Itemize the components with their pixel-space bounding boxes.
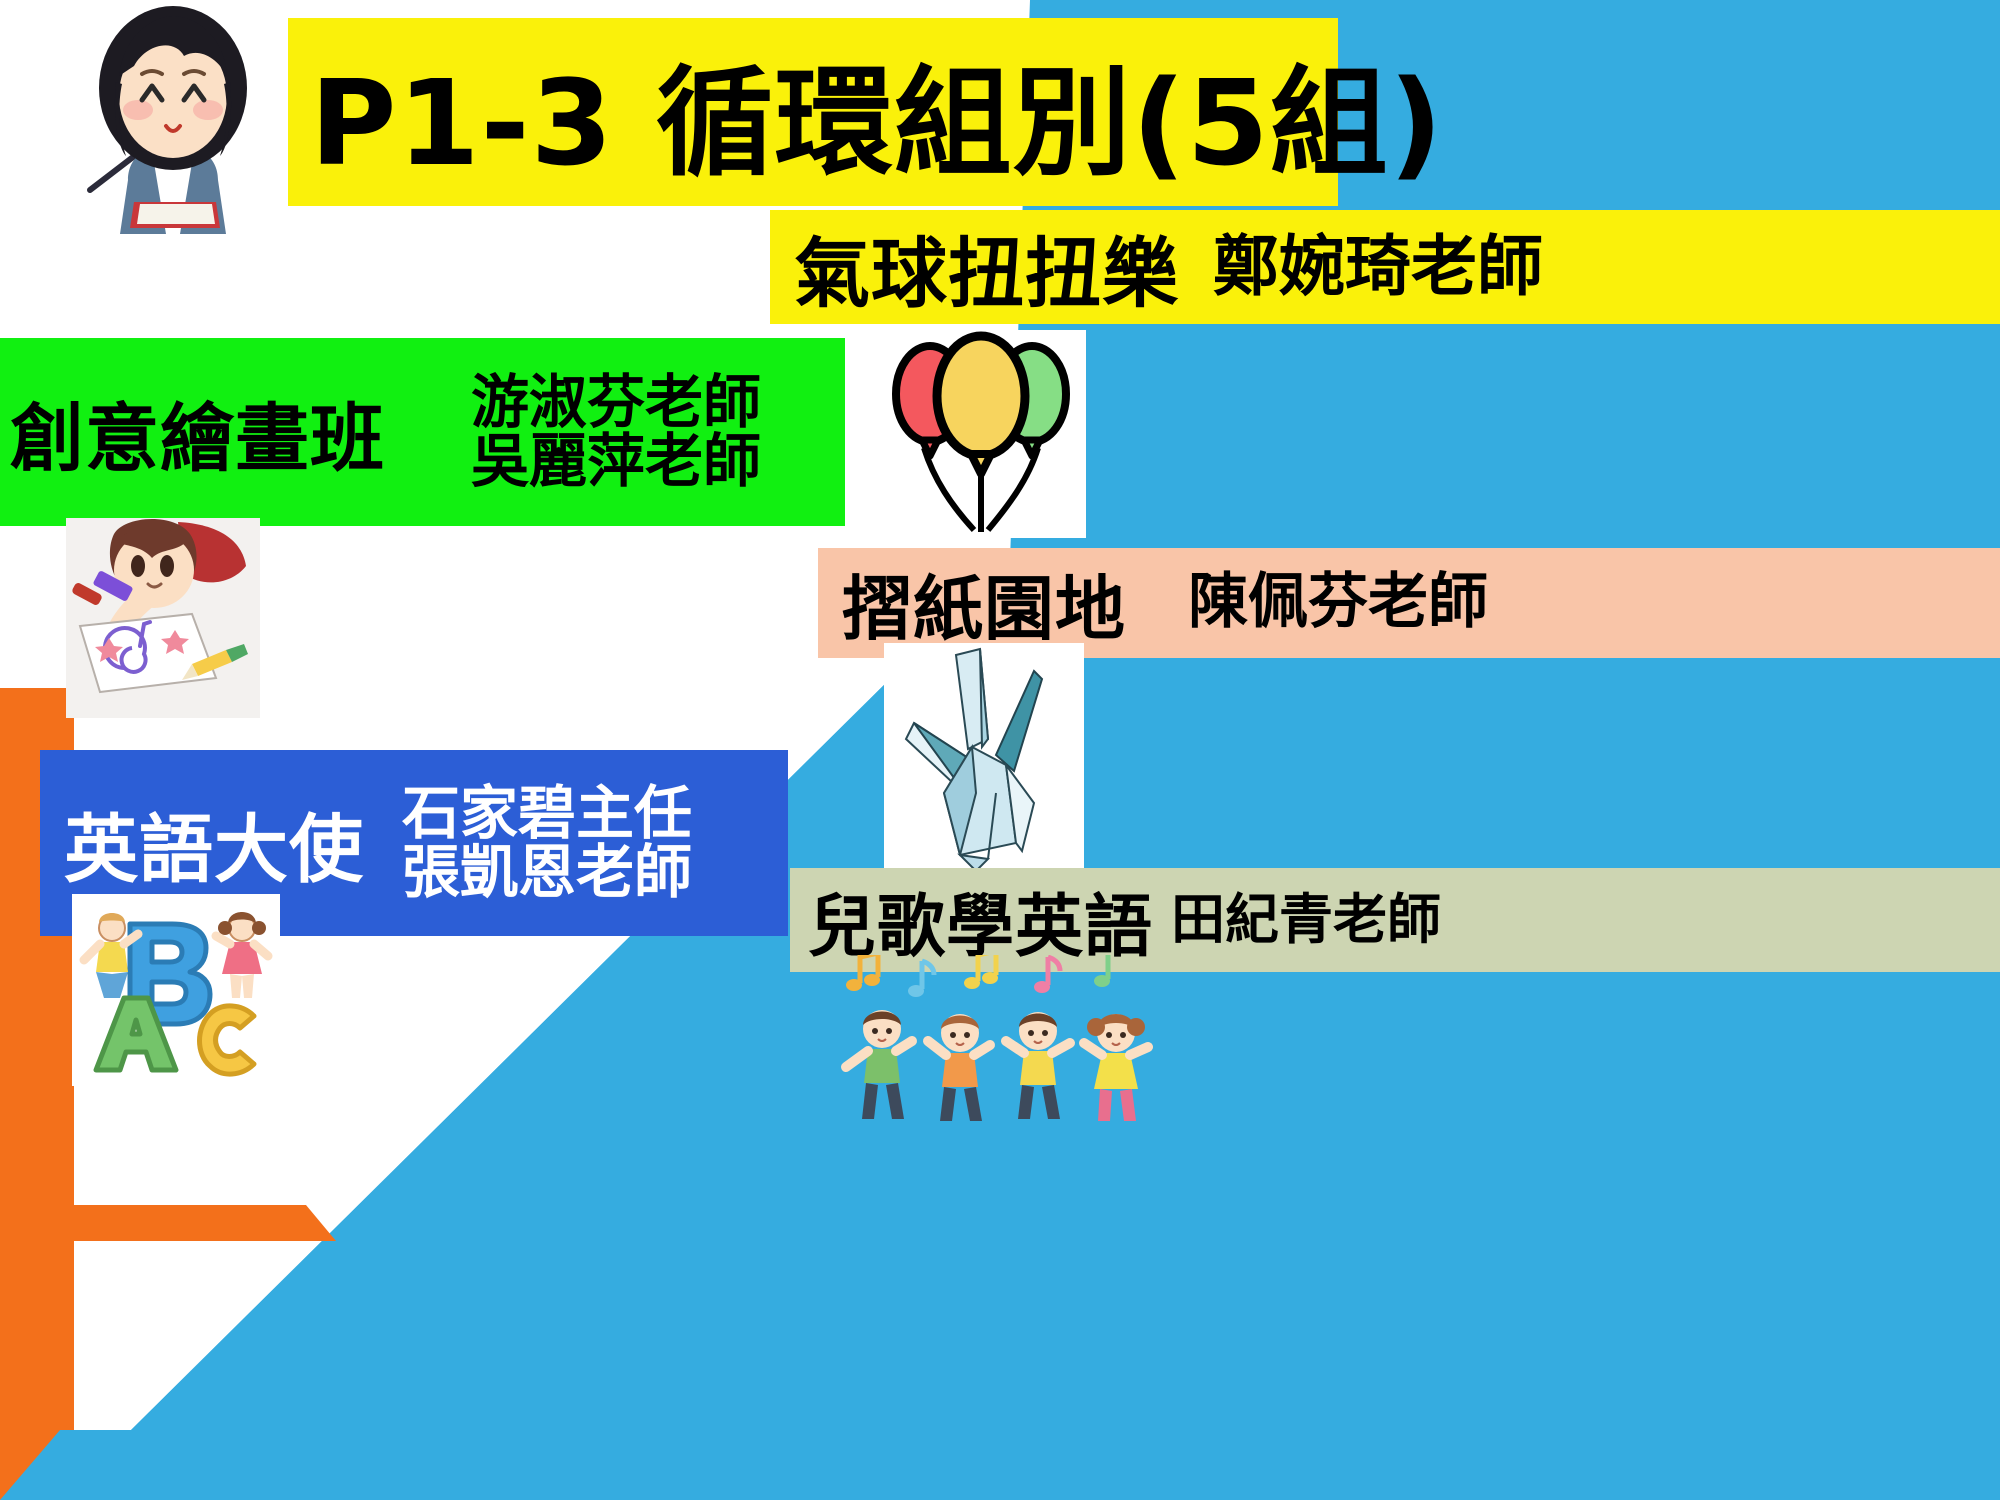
abc-blocks-icon: [72, 894, 280, 1086]
group-teachers-english: 石家碧主任 張凱恩老師: [402, 784, 692, 902]
slide-canvas: P1-3 循環組別(5組) 氣球扭扭樂 鄭婉琦老師 創意繪畫班 游淑芬老師 吳麗…: [0, 0, 2000, 1500]
group-banner-origami: 摺紙園地 陳佩芬老師: [818, 548, 2000, 658]
group-name-drawing: 創意繪畫班: [10, 379, 385, 486]
group-banner-balloon: 氣球扭扭樂 鄭婉琦老師: [770, 210, 2000, 324]
slide-title-banner: P1-3 循環組別(5組): [288, 18, 1338, 206]
group-teachers-balloon: 鄭婉琦老師: [1213, 233, 1543, 300]
group-teachers-drawing: 游淑芬老師 吳麗萍老師: [471, 373, 761, 491]
background-orange-foot: [0, 1205, 360, 1241]
group-name-origami: 摺紙園地: [842, 553, 1126, 654]
group-name-english: 英語大使: [64, 790, 364, 897]
teacher-avatar-icon: [76, 4, 270, 234]
group-banner-drawing: 創意繪畫班 游淑芬老師 吳麗萍老師: [0, 338, 845, 526]
group-teachers-songs: 田紀青老師: [1171, 892, 1441, 947]
child-drawing-icon: [66, 518, 260, 718]
paper-crane-icon: [884, 643, 1084, 875]
singing-children-icon: [838, 955, 1164, 1127]
balloons-icon: [878, 330, 1086, 538]
group-name-balloon: 氣球扭扭樂: [794, 212, 1179, 322]
group-teachers-origami: 陳佩芬老師: [1188, 572, 1488, 633]
page-title: P1-3 循環組別(5組): [310, 27, 1444, 198]
